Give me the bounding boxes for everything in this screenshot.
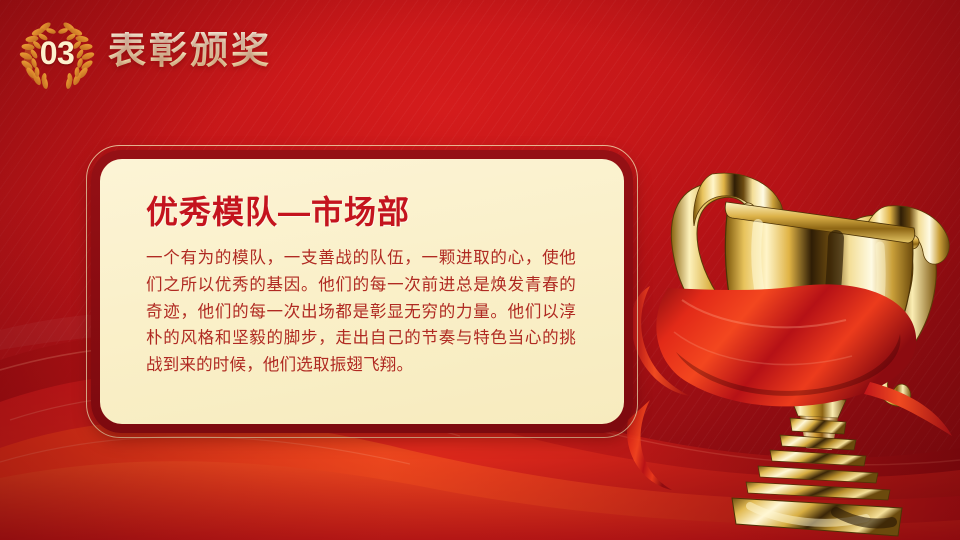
card-inner: 优秀模队—市场部 一个有为的模队，一支善战的队伍，一颗进取的心，使他们之所以优秀… <box>100 159 624 424</box>
page-title: 表彰颁奖 <box>108 32 272 74</box>
card-body-text: 一个有为的模队，一支善战的队伍，一颗进取的心，使他们之所以优秀的基因。他们的每一… <box>146 245 576 379</box>
card-title: 优秀模队—市场部 <box>146 195 584 230</box>
slide-header: 03 表彰颁奖 <box>0 0 272 89</box>
slide-root: 03 表彰颁奖 优秀模队—市场部 一个有为的模队，一支善战的队伍，一颗进取的心，… <box>0 0 960 540</box>
gold-trophy-icon <box>640 150 960 540</box>
content-card: 优秀模队—市场部 一个有为的模队，一支善战的队伍，一颗进取的心，使他们之所以优秀… <box>86 145 638 438</box>
section-number-badge: 03 <box>18 17 96 89</box>
section-number: 03 <box>40 37 75 69</box>
